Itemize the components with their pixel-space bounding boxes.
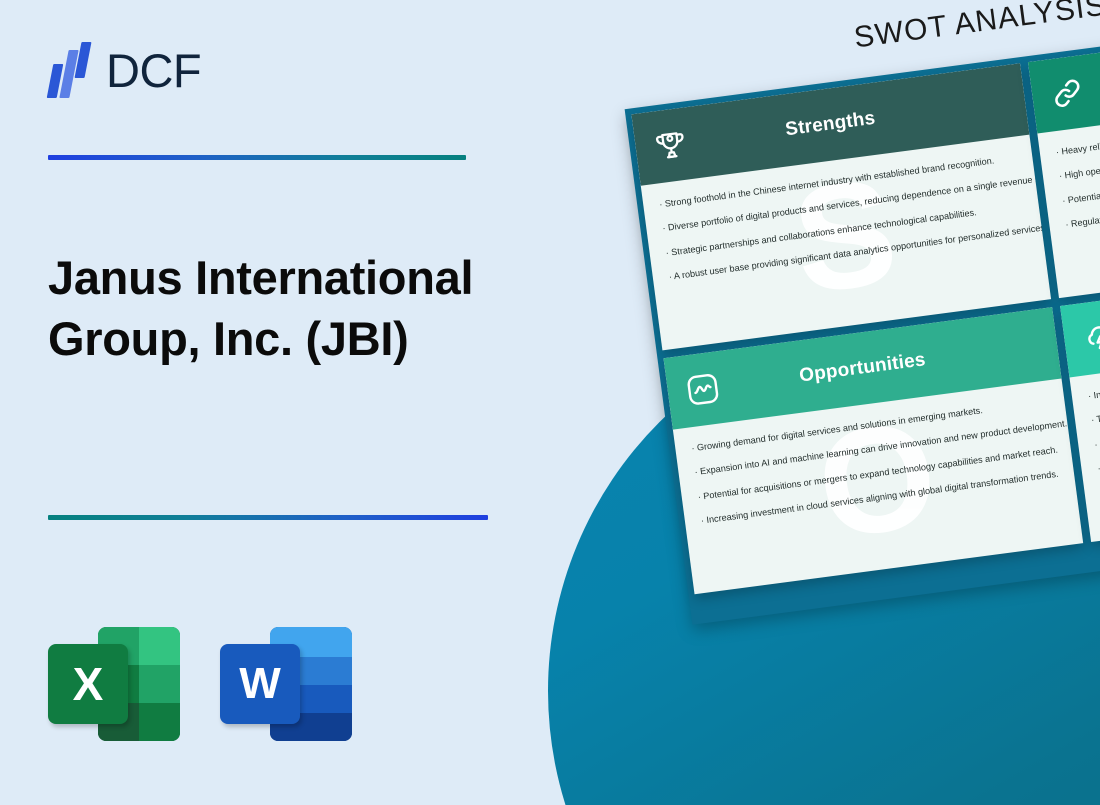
pulse-wave-icon <box>684 370 722 408</box>
divider-bottom <box>48 515 488 520</box>
excel-badge-letter: X <box>48 644 128 724</box>
swot-analysis-graphic: SWOT ANALYSIS Strengths S <box>600 0 1100 675</box>
swot-cover-page: DCF Janus International Group, Inc. (JBI… <box>0 0 1100 805</box>
chain-link-icon <box>1048 74 1086 112</box>
page-title: Janus International Group, Inc. (JBI) <box>48 248 518 369</box>
left-info-panel: DCF Janus International Group, Inc. (JBI… <box>0 0 540 805</box>
trophy-icon <box>652 126 690 164</box>
divider-top <box>48 155 466 160</box>
word-file-icon[interactable]: W <box>220 618 352 750</box>
three-bars-logo-icon <box>48 42 92 98</box>
brand-logo-text: DCF <box>106 47 201 94</box>
brand-logo[interactable]: DCF <box>48 42 201 98</box>
swot-heading: SWOT ANALYSIS <box>852 0 1100 55</box>
storm-cloud-icon <box>1080 318 1100 356</box>
word-badge-letter: W <box>220 644 300 724</box>
file-format-icons: X W <box>48 618 352 750</box>
swot-card-strengths[interactable]: Strengths S Strong foothold in the Chine… <box>631 63 1051 350</box>
excel-file-icon[interactable]: X <box>48 618 180 750</box>
swot-card-opportunities[interactable]: Opportunities O Growing demand for digit… <box>663 307 1083 594</box>
